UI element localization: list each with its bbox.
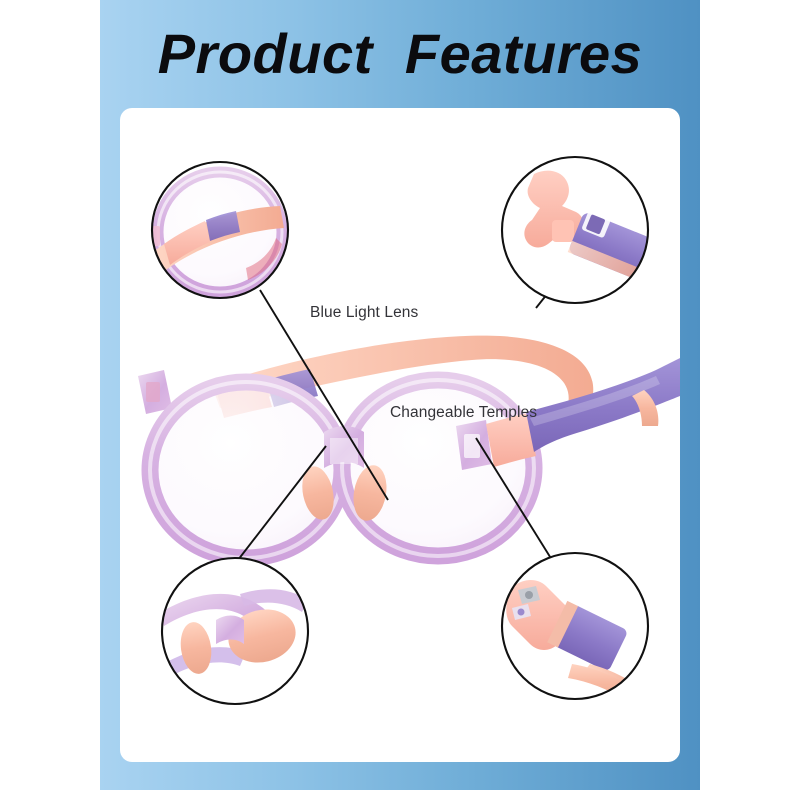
page-title: Product Features bbox=[100, 14, 700, 92]
right-hinge-screw bbox=[464, 434, 480, 458]
left-hinge-screw bbox=[146, 382, 160, 402]
detail-circle-frim-screw bbox=[502, 553, 648, 712]
detail-circle-changeable-temples bbox=[502, 157, 654, 303]
detail-circle-soft-nose-pads bbox=[158, 558, 308, 704]
product-illustration bbox=[120, 108, 680, 762]
infographic-canvas: Product Features bbox=[0, 0, 800, 800]
content-card: Blue Light Lens Changeable Temples Soft … bbox=[120, 108, 680, 762]
callout-label-changeable-temples: Changeable Temples bbox=[390, 404, 537, 422]
main-product-glasses bbox=[138, 336, 680, 558]
detail-circle-blue-light-lens bbox=[146, 162, 288, 298]
callout-label-blue-light-lens: Blue Light Lens bbox=[310, 304, 418, 322]
bridge-highlight bbox=[330, 438, 358, 464]
